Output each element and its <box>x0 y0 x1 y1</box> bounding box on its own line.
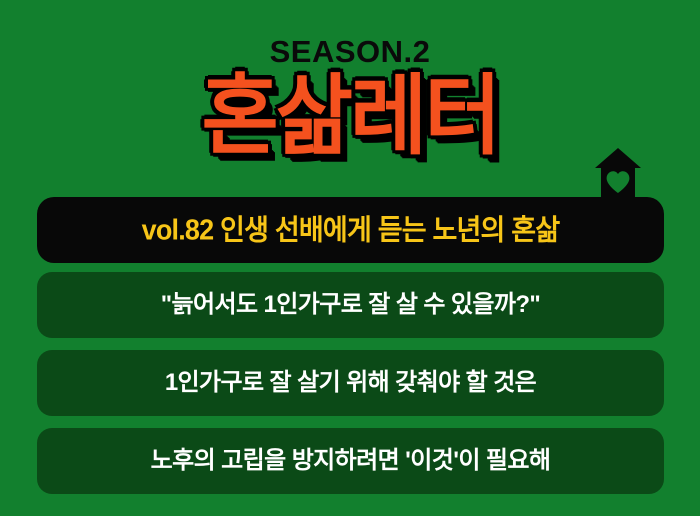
headline-label: 노후의 고립을 방지하려면 '이것'이 필요해 <box>151 449 551 473</box>
headline-label: "늙어서도 1인가구로 잘 살 수 있을까?" <box>161 293 540 317</box>
house-with-heart-glyph <box>594 148 642 200</box>
headline-list: "늙어서도 1인가구로 잘 살 수 있을까?" 1인가구로 잘 살기 위해 갖춰… <box>37 272 664 494</box>
list-item[interactable]: "늙어서도 1인가구로 잘 살 수 있을까?" <box>37 272 664 338</box>
house-with-heart-icon <box>594 148 642 200</box>
newsletter-poster: SEASON.2 혼삶레터 vol.82 인생 선배에게 듣는 노년의 혼삶 "… <box>0 0 700 516</box>
season-label: SEASON.2 <box>0 36 700 67</box>
volume-banner: vol.82 인생 선배에게 듣는 노년의 혼삶 <box>37 197 664 263</box>
headline-label: 1인가구로 잘 살기 위해 갖춰야 할 것은 <box>165 371 536 395</box>
volume-banner-label: vol.82 인생 선배에게 듣는 노년의 혼삶 <box>142 216 560 245</box>
list-item[interactable]: 1인가구로 잘 살기 위해 갖춰야 할 것은 <box>37 350 664 416</box>
page-title: 혼삶레터 <box>0 72 700 159</box>
list-item[interactable]: 노후의 고립을 방지하려면 '이것'이 필요해 <box>37 428 664 494</box>
